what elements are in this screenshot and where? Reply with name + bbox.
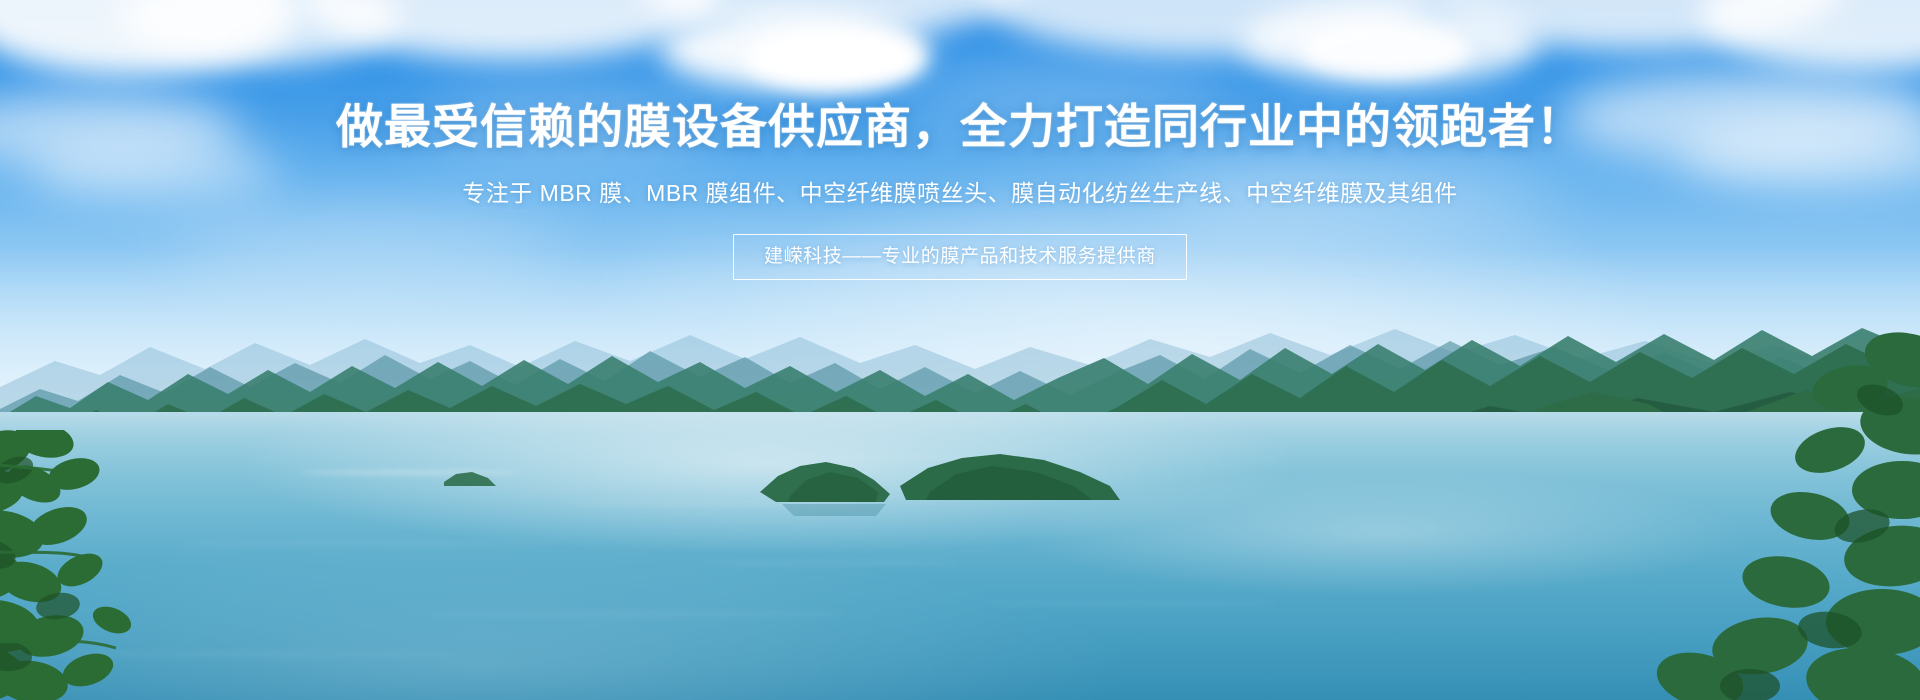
banner-tagline-box: 建嵘科技——专业的膜产品和技术服务提供商 [733, 234, 1187, 280]
banner-tagline: 建嵘科技——专业的膜产品和技术服务提供商 [764, 247, 1156, 266]
hero-banner: 做最受信赖的膜设备供应商，全力打造同行业中的领跑者！ 专注于 MBR 膜、MBR… [0, 0, 1920, 700]
banner-headline: 做最受信赖的膜设备供应商，全力打造同行业中的领跑者！ [336, 104, 1584, 151]
banner-subtitle: 专注于 MBR 膜、MBR 膜组件、中空纤维膜喷丝头、膜自动化纺丝生产线、中空纤… [462, 182, 1457, 205]
banner-content: 做最受信赖的膜设备供应商，全力打造同行业中的领跑者！ 专注于 MBR 膜、MBR… [0, 0, 1920, 700]
